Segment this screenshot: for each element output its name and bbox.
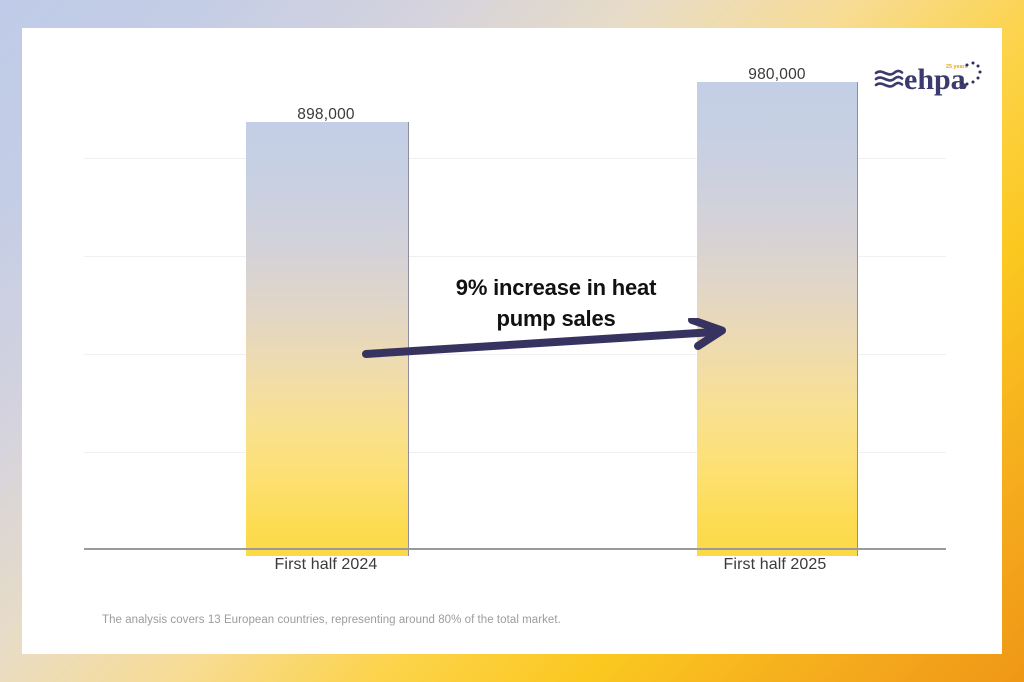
bar-value-label-2025: 980,000 [697, 66, 857, 84]
category-label-2025: First half 2025 [695, 556, 855, 574]
annotation-line-1: 9% increase in heat [414, 272, 698, 303]
decorative-gradient-frame: ehpa 25 years [0, 0, 1024, 682]
x-axis-line [84, 548, 946, 550]
bar-value-label-2024: 898,000 [246, 106, 406, 124]
chart-card: ehpa 25 years [22, 28, 1002, 654]
category-label-2024: First half 2024 [246, 556, 406, 574]
logo-anniversary: 25 years [946, 64, 968, 70]
footnote-text: The analysis covers 13 European countrie… [102, 614, 561, 626]
growth-arrow-icon [362, 318, 762, 378]
